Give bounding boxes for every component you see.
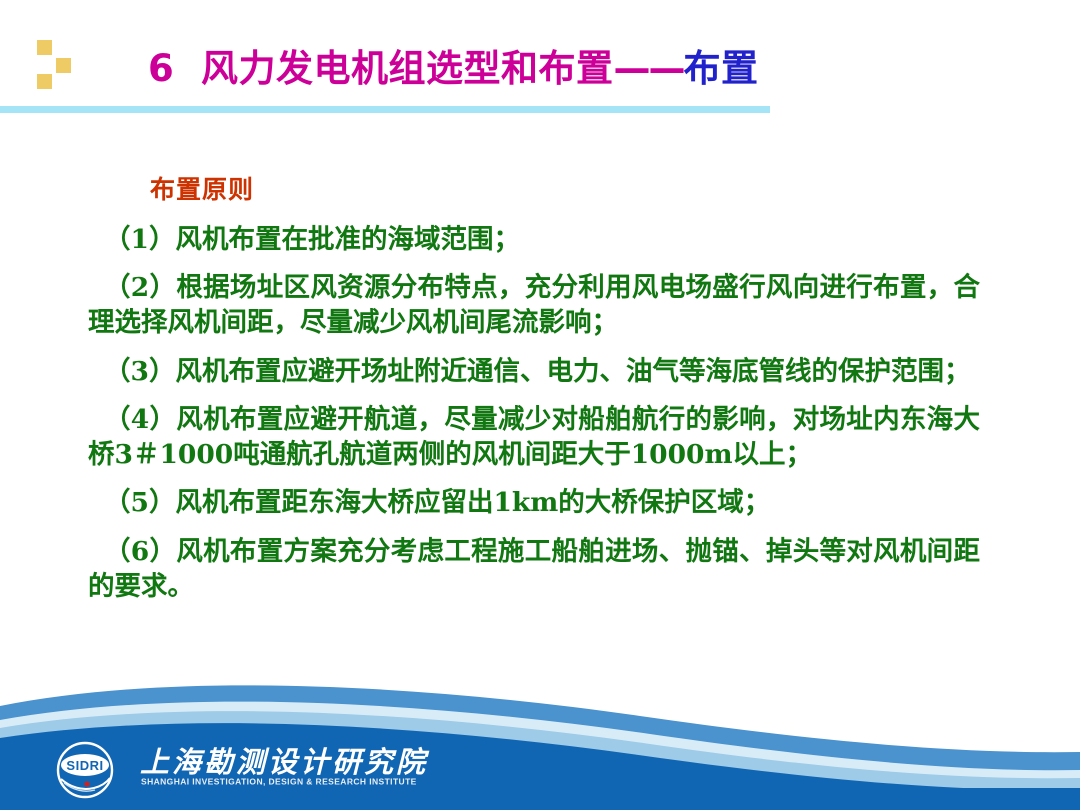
list-item: （1）风机布置在批准的海域范围； — [88, 222, 980, 257]
company-name-english: SHANGHAI INVESTIGATION, DESIGN & RESEARC… — [141, 777, 417, 786]
title-number: 6 — [148, 47, 174, 90]
section-subheading: 布置原则 — [150, 170, 254, 206]
title-underline-rule — [0, 106, 770, 113]
list-item: （4）风机布置应避开航道，尽量减少对船舶航行的影响，对场址内东海大桥3＃1000… — [88, 402, 980, 472]
sidri-badge-icon: SIDRI — [56, 741, 114, 799]
company-logo: SIDRI 上海勘测设计研究院 SHANGHAI INVESTIGATION, … — [56, 741, 456, 801]
decorative-square-icon — [37, 74, 52, 89]
slide-title: 6 风力发电机组选型和布置——布置 — [148, 48, 759, 91]
company-name-chinese: 上海勘测设计研究院 — [140, 739, 428, 781]
title-main-text: 风力发电机组选型和布置 — [201, 47, 614, 90]
decorative-square-icon — [37, 40, 52, 55]
list-item: （2）根据场址区风资源分布特点，充分利用风电场盛行风向进行布置，合理选择风机间距… — [88, 270, 980, 340]
presentation-slide: 6 风力发电机组选型和布置——布置 布置原则 （1）风机布置在批准的海域范围； … — [0, 0, 1080, 810]
svg-text:SIDRI: SIDRI — [66, 758, 103, 773]
principles-list: （1）风机布置在批准的海域范围； （2）根据场址区风资源分布特点，充分利用风电场… — [88, 222, 980, 617]
title-spacer — [174, 47, 201, 90]
list-item: （3）风机布置应避开场址附近通信、电力、油气等海底管线的保护范围； — [88, 354, 980, 389]
title-accent-text: 布置 — [684, 47, 759, 90]
title-dash: —— — [614, 47, 684, 90]
list-item: （6）风机布置方案充分考虑工程施工船舶进场、抛锚、掉头等对风机间距的要求。 — [88, 534, 980, 604]
list-item: （5）风机布置距东海大桥应留出1km的大桥保护区域； — [88, 485, 980, 520]
decorative-square-icon — [56, 58, 71, 73]
